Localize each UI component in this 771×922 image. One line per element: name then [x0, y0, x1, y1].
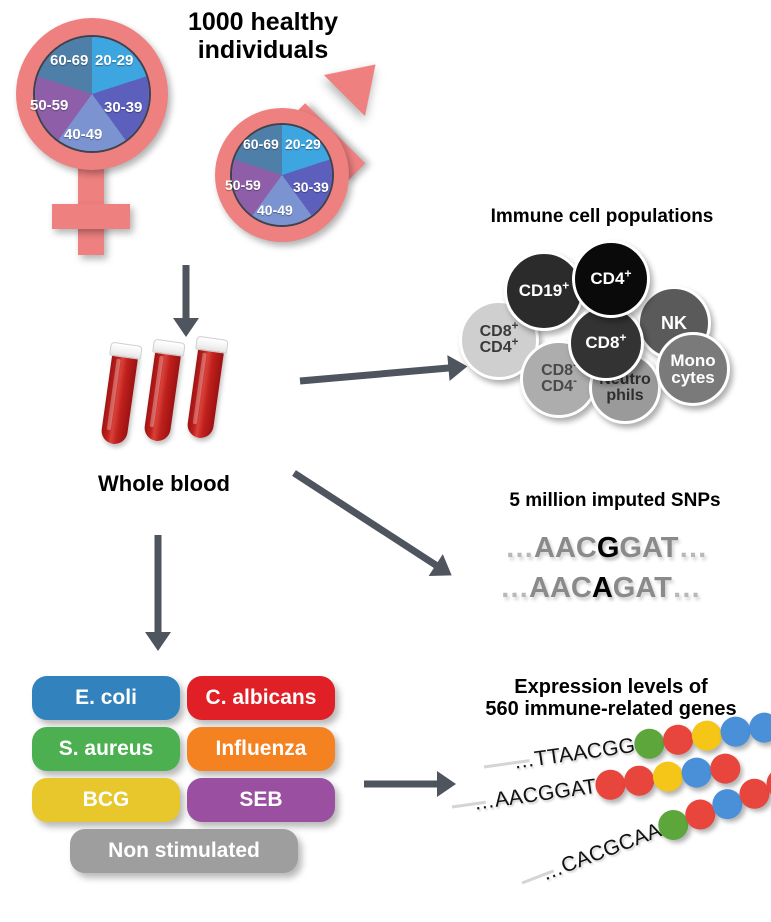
expression-bead [622, 764, 656, 798]
stimulation-pill-non-stimulated[interactable]: Non stimulated [70, 829, 298, 873]
expression-bead [689, 719, 723, 753]
arrow-shaft [364, 781, 440, 788]
arrow-shaft [292, 470, 440, 570]
expression-title-line-2: 560 immune-related genes [455, 698, 767, 720]
gene-sequence-label: …CACGCAA [538, 819, 665, 887]
snp-suffix: GAT [619, 532, 678, 564]
arrow-shaft [155, 535, 162, 635]
immune-cell-cd4pos: CD4+ [572, 240, 650, 318]
stimulation-pill-s-aureus[interactable]: S. aureus [32, 727, 180, 771]
stimulation-label: SEB [239, 788, 282, 812]
stimulation-label: C. albicans [206, 686, 317, 710]
stimulations-group: E. coli C. albicans S. aureus Influenza … [32, 676, 342, 891]
arrow-blood-to-snps [287, 462, 461, 587]
immune-cell-label: NK [661, 314, 687, 333]
stimulation-label: E. coli [75, 686, 137, 710]
arrow-stimulations-to-expression [364, 771, 458, 797]
immune-cell-label: CD19+ [519, 282, 570, 300]
expression-bead [747, 711, 771, 745]
expression-bead [593, 768, 627, 802]
snp-sequence-row: …AACAGAT… [500, 572, 701, 605]
expression-bead [718, 715, 752, 749]
snp-sequence-row: …AACGGAT… [505, 532, 707, 565]
expression-bead [651, 760, 685, 794]
immune-cell-label: Monocytes [670, 352, 715, 387]
arrow-blood-to-stimulations [145, 535, 171, 653]
snp-trail-ellipsis: … [678, 532, 707, 564]
stimulation-label: S. aureus [59, 737, 154, 761]
snp-prefix: AAC [534, 532, 597, 564]
snp-trail-ellipsis: … [672, 572, 701, 604]
immune-cell-label: CD8+CD4+ [480, 324, 519, 357]
expression-bead [632, 727, 666, 761]
stimulation-label: BCG [83, 788, 130, 812]
expression-bead [679, 756, 713, 790]
immune-cell-label: CD8+ [585, 334, 626, 352]
immune-cell-label: CD4+ [590, 270, 631, 288]
expression-bead [661, 723, 695, 757]
snp-suffix: GAT [613, 572, 672, 604]
stimulation-label: Non stimulated [108, 839, 260, 863]
snp-lead-ellipsis: … [500, 572, 529, 604]
expression-bead [708, 752, 742, 786]
stimulation-pill-seb[interactable]: SEB [187, 778, 335, 822]
immune-cell-monocytes: Monocytes [656, 332, 730, 406]
snp-prefix: AAC [529, 572, 592, 604]
snp-variant-allele: A [592, 572, 613, 604]
immune-cell-cluster: CD8+CD4+ CD19+ CD4+ NK CD8+ CD8-CD4- Neu… [0, 0, 771, 450]
stimulation-pill-bcg[interactable]: BCG [32, 778, 180, 822]
arrow-head [145, 632, 171, 651]
stimulation-label: Influenza [215, 737, 306, 761]
snp-title: 5 million imputed SNPs [470, 490, 760, 511]
expression-title-line-1: Expression levels of [455, 676, 767, 698]
snp-lead-ellipsis: … [505, 532, 534, 564]
snp-variant-allele: G [597, 532, 620, 564]
expression-title: Expression levels of 560 immune-related … [455, 676, 767, 721]
immune-cell-cd19pos: CD19+ [504, 251, 584, 331]
stimulation-pill-c-albicans[interactable]: C. albicans [187, 676, 335, 720]
whole-blood-label: Whole blood [74, 472, 254, 497]
immune-cell-label: CD8-CD4- [541, 363, 577, 396]
stimulation-pill-influenza[interactable]: Influenza [187, 727, 335, 771]
stimulation-pill-e-coli[interactable]: E. coli [32, 676, 180, 720]
